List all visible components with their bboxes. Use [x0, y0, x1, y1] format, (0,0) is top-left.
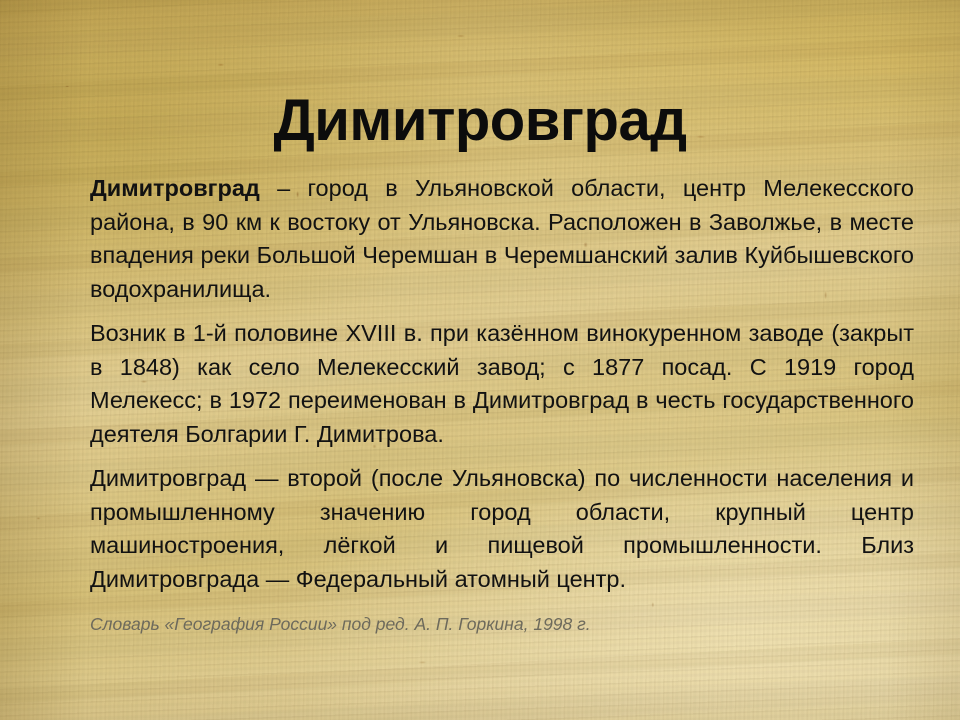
paragraph-2: Возник в 1-й половине XVIII в. при казён… — [90, 317, 914, 451]
slide-title: Димитровград — [0, 91, 960, 152]
slide-body: Димитровград – город в Ульяновской облас… — [90, 172, 914, 654]
paragraph-3-text: Димитровград — второй (после Ульяновска)… — [90, 465, 914, 592]
slide-content: Димитровград Димитровград – город в Улья… — [0, 0, 960, 720]
paragraph-1-lead: Димитровград — [90, 175, 260, 201]
source-citation: Словарь «География России» под ред. А. П… — [90, 612, 914, 636]
paragraph-2-text: Возник в 1-й половине XVIII в. при казён… — [90, 320, 914, 447]
paragraph-3: Димитровград — второй (после Ульяновска)… — [90, 462, 914, 596]
paragraph-1: Димитровград – город в Ульяновской облас… — [90, 172, 914, 306]
presentation-slide: Димитровград Димитровград – город в Улья… — [0, 0, 960, 720]
